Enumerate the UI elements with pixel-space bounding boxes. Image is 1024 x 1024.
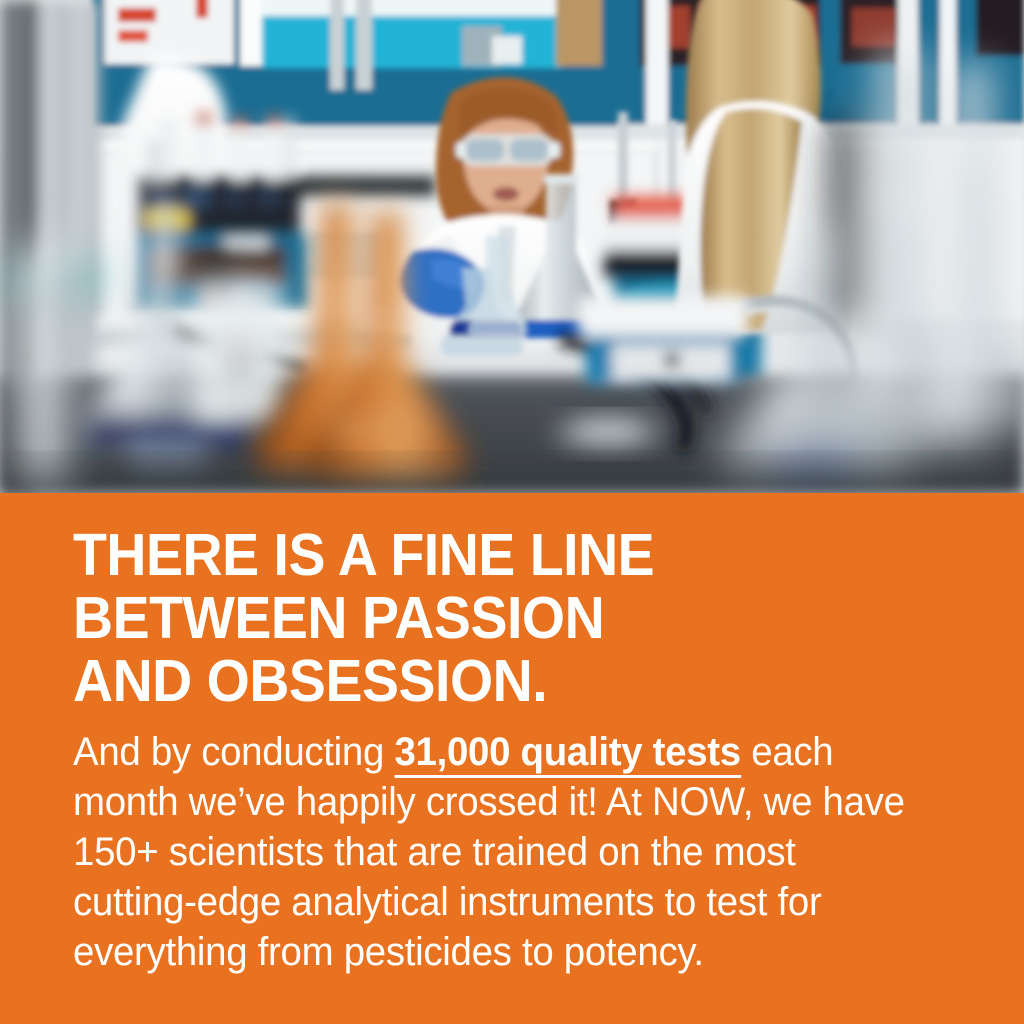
highlight-quality-tests: 31,000 quality tests xyxy=(394,730,740,778)
headline: THERE IS A FINE LINE BETWEEN PASSION AND… xyxy=(73,524,900,713)
foreground-bottle-white xyxy=(192,262,282,424)
promo-graphic: 500 xyxy=(0,0,1024,1024)
bench-balance xyxy=(578,296,748,384)
safety-goggles xyxy=(456,134,560,166)
orange-text-panel: THERE IS A FINE LINE BETWEEN PASSION AND… xyxy=(0,493,1024,1024)
laboratory-photo: 500 xyxy=(0,0,1024,494)
body-segment-1: And by conducting xyxy=(73,730,394,774)
lab-scene-illustration: 500 xyxy=(0,0,1024,494)
watch-glass-dish xyxy=(552,417,664,451)
photo-bottom-blur xyxy=(0,462,1024,494)
body-copy: And by conducting 31,000 quality tests e… xyxy=(73,727,927,977)
